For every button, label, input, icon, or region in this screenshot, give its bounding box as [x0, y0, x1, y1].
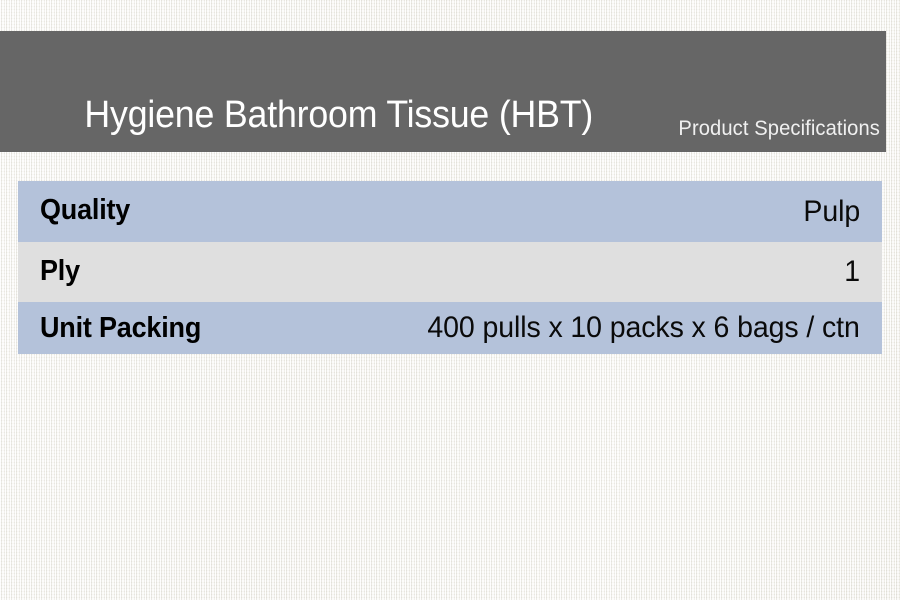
header-banner: Hygiene Bathroom Tissue (HBT) - For Toil…	[0, 31, 886, 152]
header-subtitle: Product Specifications	[678, 117, 880, 141]
table-row: Ply 1	[18, 242, 882, 302]
spec-value-unit-packing: 400 pulls x 10 packs x 6 bags / ctn	[246, 311, 860, 345]
spec-label-unit-packing: Unit Packing	[40, 312, 201, 345]
specifications-table: Quality Pulp Ply 1 Unit Packing 400 pull…	[18, 181, 882, 354]
spec-value-ply: 1	[122, 255, 860, 289]
table-row: Quality Pulp	[18, 181, 882, 242]
spec-label-ply: Ply	[40, 255, 80, 288]
page-title-line-1: Hygiene Bathroom Tissue (HBT)	[84, 94, 593, 136]
spec-label-quality: Quality	[40, 194, 130, 227]
table-row: Unit Packing 400 pulls x 10 packs x 6 ba…	[18, 302, 882, 354]
spec-value-quality: Pulp	[173, 195, 860, 229]
slide-root: Hygiene Bathroom Tissue (HBT) - For Toil…	[0, 0, 900, 600]
